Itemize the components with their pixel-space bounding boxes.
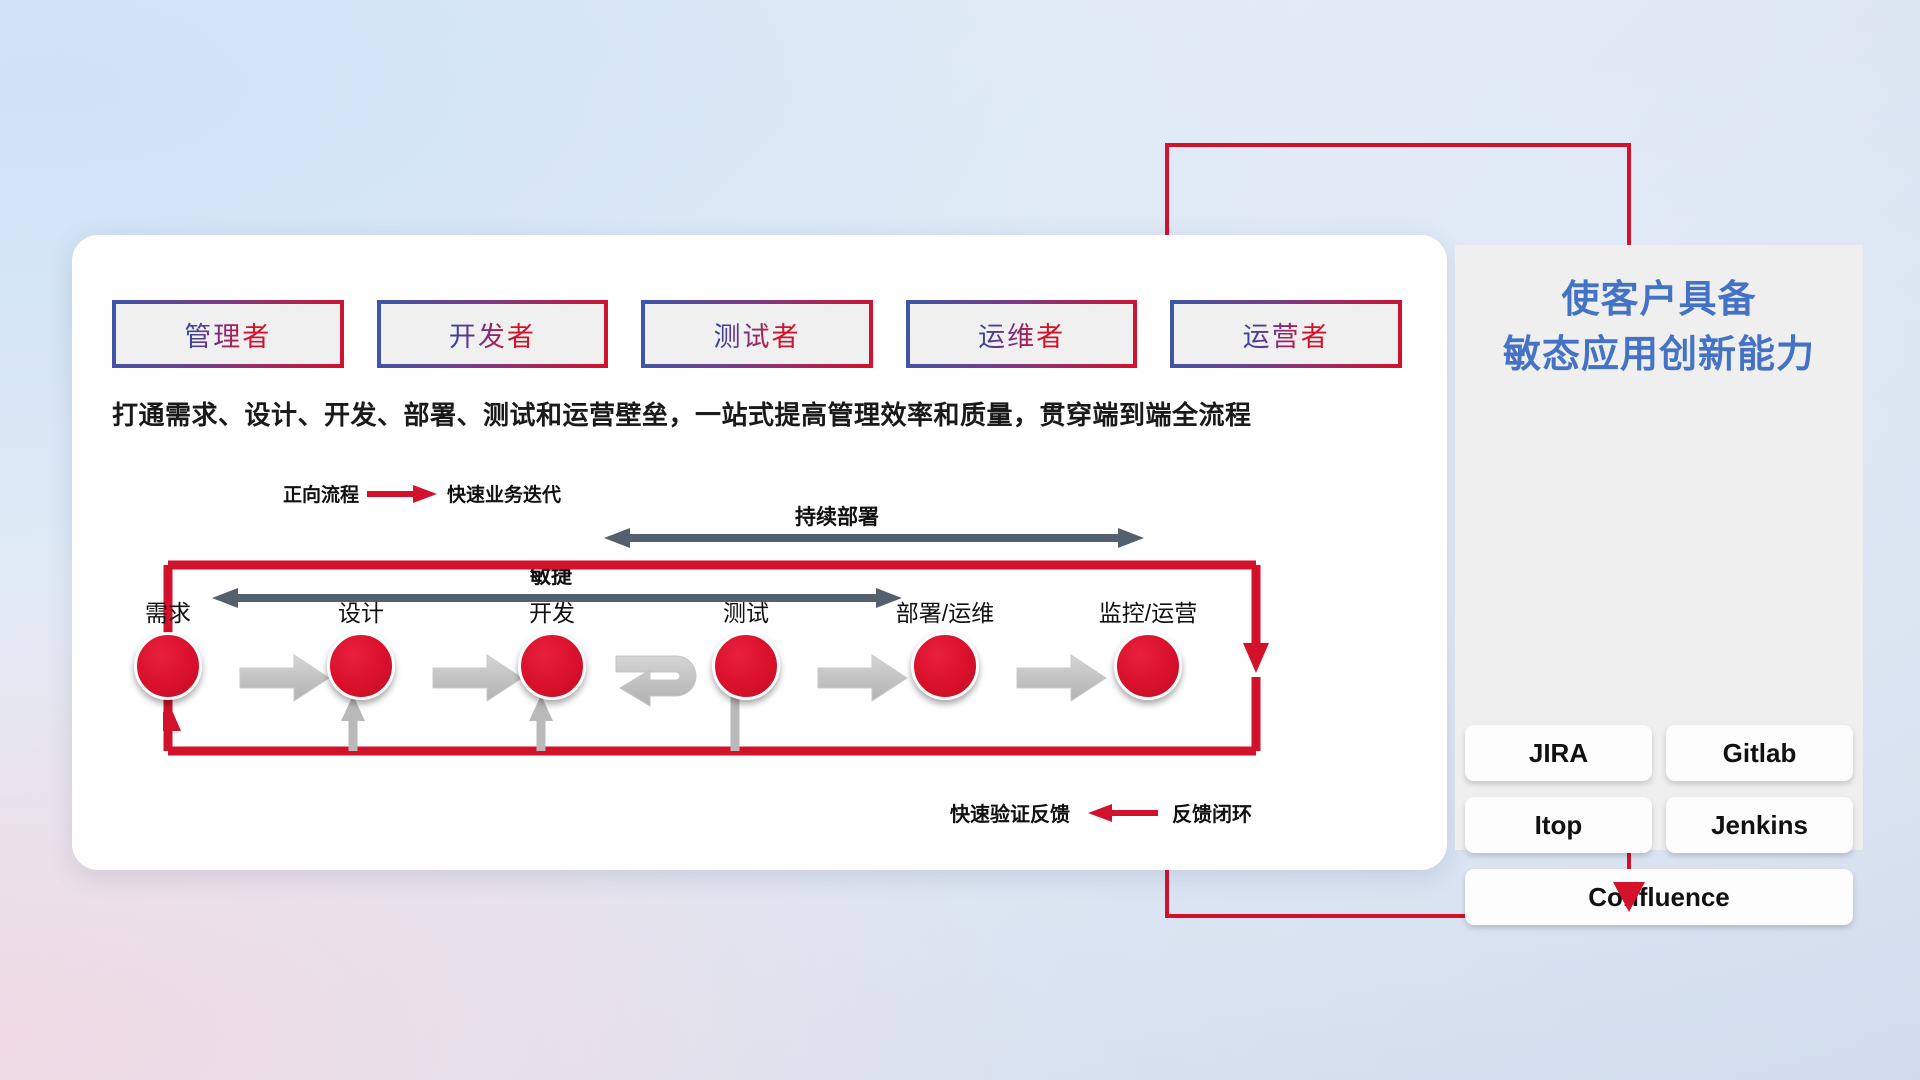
role-box-operations[interactable]: 运营者 [1170, 300, 1402, 368]
tool-chip-row: Itop Jenkins [1465, 797, 1853, 853]
role-box-ops[interactable]: 运维者 [906, 300, 1138, 368]
block-arrow-right-icon [431, 652, 524, 704]
legend-feedback-loop: 快速验证反馈 反馈闭环 [950, 798, 1252, 827]
pipeline-node-dot [1114, 632, 1182, 700]
tool-chip-gitlab[interactable]: Gitlab [1666, 725, 1853, 781]
bracket-arrow-down-icon [1613, 868, 1645, 912]
legend-forward-to: 快速业务迭代 [447, 480, 561, 507]
tool-chip-row: Confluence [1465, 869, 1853, 925]
pipeline-node-testing[interactable]: 测试 [708, 632, 784, 700]
pipeline-node-label: 设计 [338, 594, 384, 628]
tool-chip-confluence[interactable]: Confluence [1465, 869, 1853, 925]
block-arrow-right-icon [816, 652, 909, 704]
pipeline-node-label: 监控/运营 [1099, 594, 1197, 628]
role-box-row: 管理者 开发者 测试者 运维者 运营者 [112, 300, 1402, 368]
pipeline-node-design[interactable]: 设计 [323, 632, 399, 700]
tool-chip-jira[interactable]: JIRA [1465, 725, 1652, 781]
pipeline-node-label: 测试 [723, 594, 769, 628]
pipeline-node-label: 开发 [529, 594, 575, 628]
role-label: 运营者 [1243, 315, 1330, 354]
legend-feedback-to: 反馈闭环 [1172, 798, 1252, 827]
panel-title: 使客户具备 敏态应用创新能力 [1455, 273, 1863, 383]
pipeline-node-deploy-ops[interactable]: 部署/运维 [907, 632, 983, 700]
role-box-developer[interactable]: 开发者 [377, 300, 609, 368]
pipeline-node-monitor-operations[interactable]: 监控/运营 [1110, 632, 1186, 700]
tool-chip-list: JIRA Gitlab Itop Jenkins Confluence [1465, 725, 1853, 941]
pipeline-node-label: 需求 [145, 594, 191, 628]
pipeline-node-development[interactable]: 开发 [514, 632, 590, 700]
pipeline-node-dot [712, 632, 780, 700]
tool-chip-jenkins[interactable]: Jenkins [1666, 797, 1853, 853]
role-label: 测试者 [713, 315, 800, 354]
legend-forward-flow: 正向流程 快速业务迭代 [283, 480, 561, 507]
pipeline-node-dot [518, 632, 586, 700]
role-label: 管理者 [184, 315, 271, 354]
slide-canvas: 管理者 开发者 测试者 运维者 运营者 打通需求、设计、开发、部署、测试和运营壁… [0, 0, 1920, 1080]
pipeline-node-dot [327, 632, 395, 700]
tool-chip-itop[interactable]: Itop [1465, 797, 1652, 853]
role-label: 运维者 [978, 315, 1065, 354]
arrow-left-icon [1084, 803, 1158, 823]
headline-text: 打通需求、设计、开发、部署、测试和运营壁垒，一站式提高管理效率和质量，贯穿端到端… [112, 395, 1412, 432]
red-bracket-top [1165, 143, 1631, 147]
panel-title-line2: 敏态应用创新能力 [1455, 328, 1863, 383]
pipeline-node-dot [911, 632, 979, 700]
tool-chip-row: JIRA Gitlab [1465, 725, 1853, 781]
right-panel: 使客户具备 敏态应用创新能力 JIRA Gitlab Itop Jenkins … [1455, 245, 1863, 850]
role-label: 开发者 [449, 315, 536, 354]
pipeline-node-requirements[interactable]: 需求 [130, 632, 206, 700]
panel-title-line1: 使客户具备 [1455, 273, 1863, 328]
legend-feedback-from: 快速验证反馈 [950, 798, 1070, 827]
role-box-tester[interactable]: 测试者 [641, 300, 873, 368]
loop-back-arrow-icon [610, 634, 718, 720]
block-arrow-right-icon [238, 652, 331, 704]
block-arrow-right-icon [1015, 652, 1108, 704]
continuous-deployment-double-arrow-icon [604, 527, 1144, 549]
role-box-manager[interactable]: 管理者 [112, 300, 344, 368]
pipeline-node-dot [134, 632, 202, 700]
arrow-right-icon [367, 484, 439, 504]
pipeline-node-label: 部署/运维 [896, 594, 994, 628]
legend-forward-from: 正向流程 [283, 480, 359, 507]
pipeline-row: 需求 设计 开发 测试 [110, 612, 1410, 722]
